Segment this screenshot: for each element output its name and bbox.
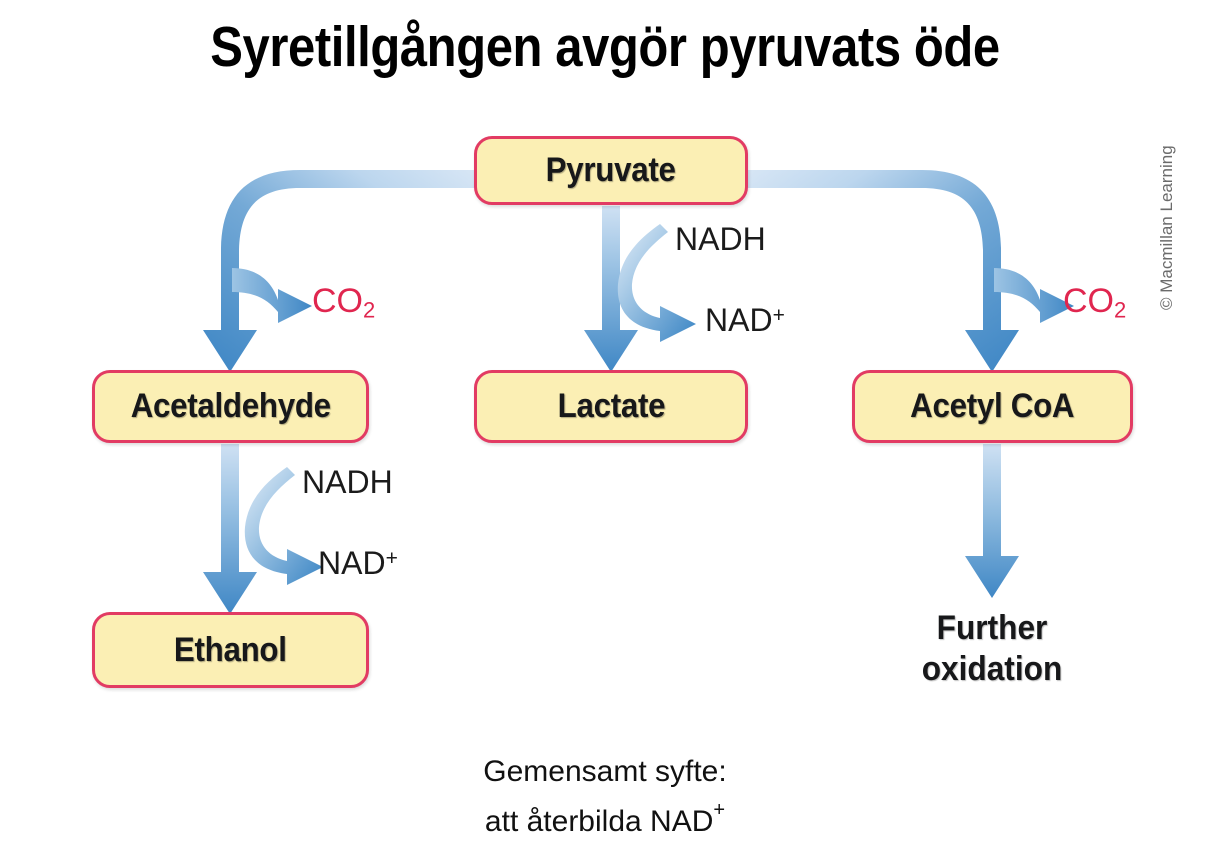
node-lactate-label: Lactate (557, 387, 665, 426)
node-pyruvate-label: Pyruvate (546, 151, 676, 190)
copyright-notice: © Macmillan Learning (1157, 145, 1177, 310)
label-nadh-middle: NADH (675, 221, 766, 258)
arrow-co2-left (232, 268, 312, 323)
node-lactate[interactable]: Lactate (474, 370, 748, 443)
label-co2-right-text: CO (1063, 282, 1114, 320)
further-oxidation-line-1: Further (937, 609, 1048, 647)
node-further-oxidation: Further oxidation (871, 608, 1113, 690)
label-nad-middle-charge: + (773, 304, 785, 327)
label-nadh-left: NADH (302, 464, 393, 501)
label-nad-left-text: NAD (318, 545, 386, 581)
arrow-co2-right (994, 268, 1074, 323)
node-acetyl-coa[interactable]: Acetyl CoA (852, 370, 1133, 443)
label-nad-middle: NAD+ (705, 302, 785, 339)
caption-line-2: att återbilda NAD (485, 805, 713, 838)
node-ethanol[interactable]: Ethanol (92, 612, 369, 688)
arrow-acetylcoa-to-further-oxidation (965, 444, 1019, 598)
node-acetyl-coa-label: Acetyl CoA (910, 387, 1074, 426)
caption-line-2-charge: + (713, 799, 725, 821)
caption-line-1: Gemensamt syfte: (483, 755, 726, 788)
node-acetaldehyde-label: Acetaldehyde (130, 387, 330, 426)
diagram-canvas: Syretillgången avgör pyruvats öde (0, 0, 1210, 842)
figure-caption: Gemensamt syfte: att återbilda NAD+ (0, 752, 1210, 841)
label-co2-left: CO2 (312, 282, 375, 324)
label-co2-right-sub: 2 (1114, 298, 1126, 323)
label-nad-left-charge: + (386, 547, 398, 570)
node-acetaldehyde[interactable]: Acetaldehyde (92, 370, 369, 443)
node-ethanol-label: Ethanol (174, 631, 287, 670)
node-pyruvate[interactable]: Pyruvate (474, 136, 748, 205)
label-co2-left-sub: 2 (363, 298, 375, 323)
arrow-pyruvate-to-acetylcoa (748, 170, 1019, 372)
label-co2-left-text: CO (312, 282, 363, 320)
label-co2-right: CO2 (1063, 282, 1126, 324)
label-nad-middle-text: NAD (705, 302, 773, 338)
further-oxidation-line-2: oxidation (922, 650, 1063, 688)
label-nad-left: NAD+ (318, 545, 398, 582)
